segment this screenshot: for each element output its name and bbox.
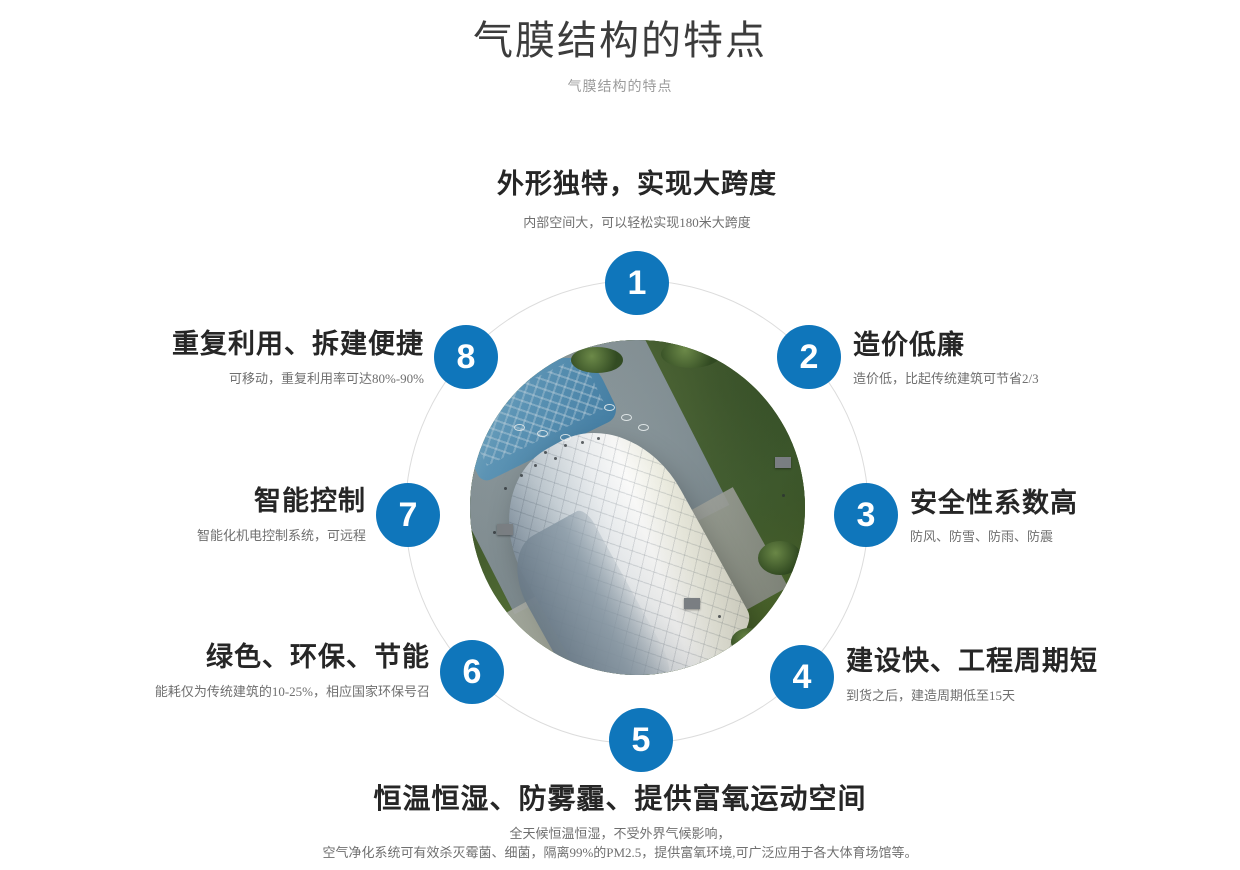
feature-title-2: 造价低廉 [853,329,965,361]
photo-person-dot [534,464,537,467]
feature-title-5: 恒温恒湿、防雾霾、提供富氧运动空间 [220,783,1020,817]
photo-tree [758,541,802,575]
infographic-page: 气膜结构的特点 气膜结构的特点 [0,0,1240,870]
feature-badge-3[interactable]: 3 [834,483,898,547]
feature-badge-4[interactable]: 4 [770,645,834,709]
feature-title-4: 建设快、工程周期短 [846,645,1098,677]
feature-title-8: 重复利用、拆建便捷 [60,328,424,360]
photo-person-dot [581,441,584,444]
photo-anchor-block [684,598,700,609]
feature-badge-5[interactable]: 5 [609,708,673,772]
photo-person-dot [782,494,785,497]
photo-anchor-block [775,457,791,468]
feature-desc-5: 全天候恒温恒湿，不受外界气候影响， [220,824,1020,844]
feature-desc-7: 智能化机电控制系统，可远程 [0,526,366,546]
feature-badge-6[interactable]: 6 [440,640,504,704]
photo-anchor-block [497,524,513,535]
feature-desc-4: 到货之后，建造周期低至15天 [846,686,1015,706]
photo-person-dot [718,615,721,618]
center-photo-image [470,340,805,675]
photo-skylight [604,404,615,411]
feature-title-7: 智能控制 [0,485,366,517]
feature-title-6: 绿色、环保、节能 [60,641,430,673]
feature-title-1: 外形独特，实现大跨度 [437,168,837,200]
feature-title-3: 安全性系数高 [910,487,1078,519]
photo-tree [571,347,623,373]
feature-desc-1: 内部空间大，可以轻松实现180米大跨度 [437,213,837,233]
photo-person-dot [544,451,547,454]
feature-badge-1[interactable]: 1 [605,251,669,315]
photo-skylight [621,414,632,421]
page-title: 气膜结构的特点 [0,8,1240,66]
feature-desc-3: 防风、防雪、防雨、防震 [910,527,1053,547]
feature-desc-5-line2: 空气净化系统可有效杀灭霉菌、细菌，隔离99%的PM2.5，提供富氧环境,可广泛应… [220,843,1020,863]
feature-desc-2: 造价低，比起传统建筑可节省2/3 [853,369,1039,389]
center-photo [470,340,805,675]
photo-person-dot [564,444,567,447]
feature-badge-8[interactable]: 8 [434,325,498,389]
feature-desc-6: 能耗仅为传统建筑的10-25%，相应国家环保号召 [60,682,430,702]
photo-tree [661,340,721,368]
feature-badge-7[interactable]: 7 [376,483,440,547]
page-subtitle: 气膜结构的特点 [0,76,1240,96]
photo-skylight [638,424,649,431]
photo-skylight [514,424,525,431]
feature-badge-2[interactable]: 2 [777,325,841,389]
feature-desc-8: 可移动，重复利用率可达80%-90% [60,369,424,389]
